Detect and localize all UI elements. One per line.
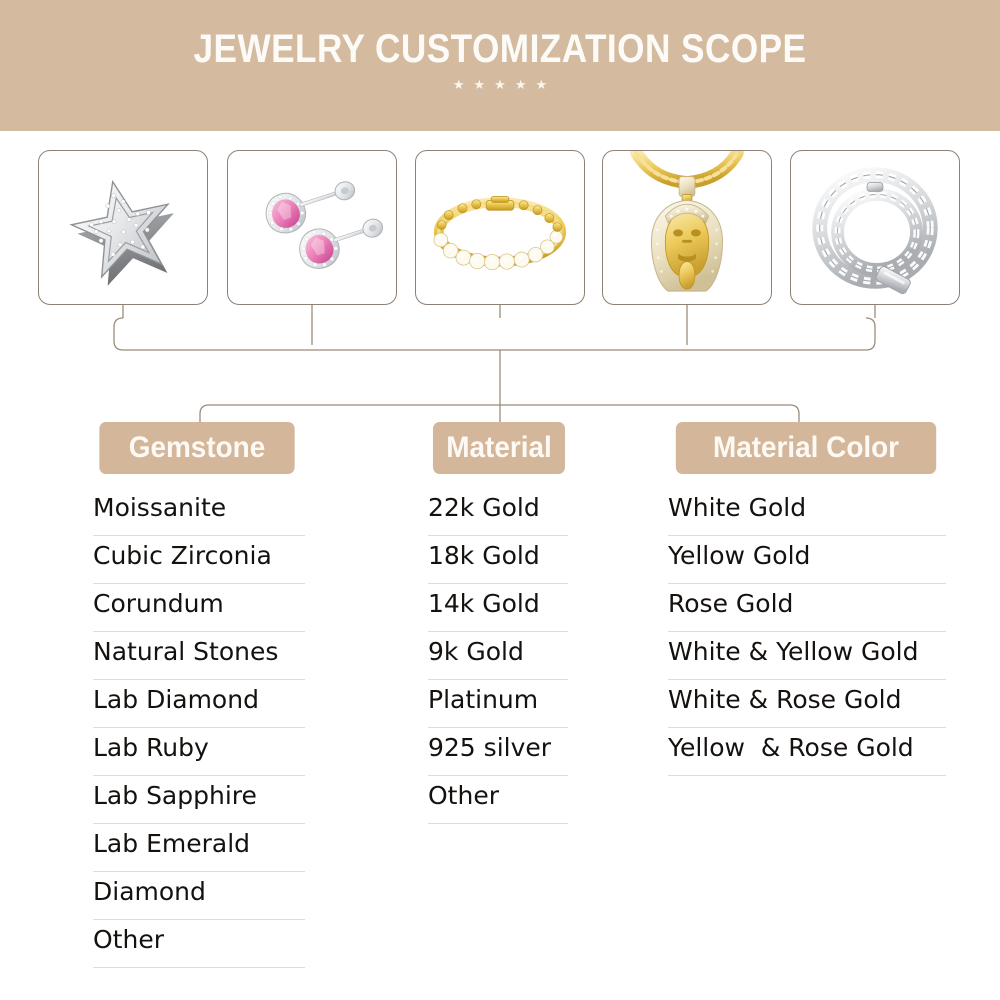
list-item[interactable]: 22k Gold <box>428 488 568 536</box>
list-item[interactable]: Other <box>93 920 305 968</box>
tennis-bracelet-icon <box>416 151 584 304</box>
list-item[interactable]: Natural Stones <box>93 632 305 680</box>
list-item[interactable]: Lab Sapphire <box>93 776 305 824</box>
page-title: JEWELRY CUSTOMIZATION SCOPE <box>60 26 940 72</box>
list-item[interactable]: Lab Ruby <box>93 728 305 776</box>
list-item[interactable]: 925 silver <box>428 728 568 776</box>
list-item[interactable]: Lab Emerald <box>93 824 305 872</box>
list-item[interactable]: Cubic Zirconia <box>93 536 305 584</box>
stud-earrings-icon <box>228 151 396 304</box>
star-rating-decoration: ★★★★★ <box>0 78 1000 94</box>
option-list-gemstone: Moissanite Cubic Zirconia Corundum Natur… <box>93 488 305 968</box>
list-item[interactable]: Rose Gold <box>668 584 946 632</box>
star-pendant-icon <box>39 151 207 304</box>
option-list-material: 22k Gold 18k Gold 14k Gold 9k Gold Plati… <box>428 488 568 824</box>
list-item[interactable]: Yellow Gold <box>668 536 946 584</box>
product-card-stud-earrings[interactable] <box>227 150 397 305</box>
list-item[interactable]: Yellow & Rose Gold <box>668 728 946 776</box>
list-item[interactable]: 14k Gold <box>428 584 568 632</box>
list-item[interactable]: Other <box>428 776 568 824</box>
category-header-gemstone[interactable]: Gemstone <box>99 422 294 474</box>
list-item[interactable]: 18k Gold <box>428 536 568 584</box>
product-card-cuban-chain[interactable] <box>790 150 960 305</box>
product-card-star-pendant[interactable] <box>38 150 208 305</box>
category-header-material[interactable]: Material <box>433 422 565 474</box>
option-list-material-color: White Gold Yellow Gold Rose Gold White &… <box>668 488 946 776</box>
list-item[interactable]: Diamond <box>93 872 305 920</box>
category-header-material-color[interactable]: Material Color <box>676 422 936 474</box>
list-item[interactable]: White Gold <box>668 488 946 536</box>
cuban-chain-icon <box>791 151 959 304</box>
list-item[interactable]: White & Yellow Gold <box>668 632 946 680</box>
product-card-tennis-bracelet[interactable] <box>415 150 585 305</box>
header-banner: JEWELRY CUSTOMIZATION SCOPE ★★★★★ <box>0 0 1000 131</box>
list-item[interactable]: Corundum <box>93 584 305 632</box>
list-item[interactable]: Platinum <box>428 680 568 728</box>
list-item[interactable]: White & Rose Gold <box>668 680 946 728</box>
list-item[interactable]: 9k Gold <box>428 632 568 680</box>
list-item[interactable]: Moissanite <box>93 488 305 536</box>
list-item[interactable]: Lab Diamond <box>93 680 305 728</box>
jesus-pendant-icon <box>603 151 771 304</box>
product-card-jesus-pendant[interactable] <box>602 150 772 305</box>
